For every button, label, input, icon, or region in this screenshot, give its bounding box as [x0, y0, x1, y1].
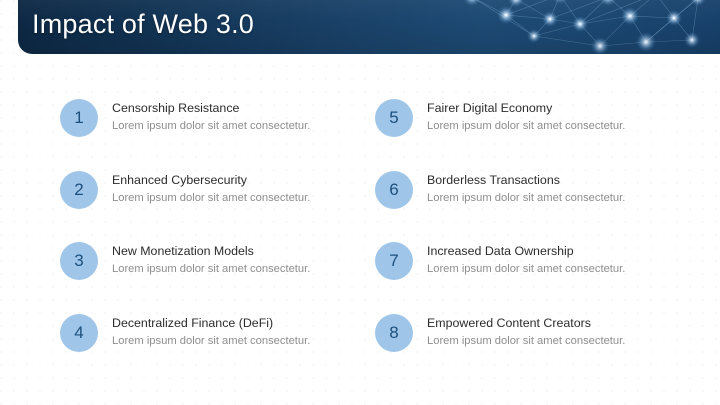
item-description: Lorem ipsum dolor sit amet consectetur.	[112, 190, 310, 206]
list-item[interactable]: 7 Increased Data Ownership Lorem ipsum d…	[375, 229, 705, 301]
item-number-badge: 1	[60, 99, 98, 137]
item-title: New Monetization Models	[112, 243, 310, 259]
item-number-badge: 3	[60, 242, 98, 280]
item-title: Fairer Digital Economy	[427, 100, 625, 116]
item-title: Increased Data Ownership	[427, 243, 625, 259]
item-description: Lorem ipsum dolor sit amet consectetur.	[112, 333, 310, 349]
list-item[interactable]: 6 Borderless Transactions Lorem ipsum do…	[375, 158, 705, 230]
benefits-list: 1 Censorship Resistance Lorem ipsum dolo…	[0, 86, 720, 386]
list-item[interactable]: 3 New Monetization Models Lorem ipsum do…	[60, 229, 390, 301]
item-number-badge: 2	[60, 171, 98, 209]
benefits-column-left: 1 Censorship Resistance Lorem ipsum dolo…	[60, 86, 390, 373]
list-item[interactable]: 5 Fairer Digital Economy Lorem ipsum dol…	[375, 86, 705, 158]
item-description: Lorem ipsum dolor sit amet consectetur.	[427, 118, 625, 134]
item-number-badge: 8	[375, 314, 413, 352]
item-title: Borderless Transactions	[427, 172, 625, 188]
item-title: Decentralized Finance (DeFi)	[112, 315, 310, 331]
item-text-block: Fairer Digital Economy Lorem ipsum dolor…	[427, 86, 625, 134]
item-description: Lorem ipsum dolor sit amet consectetur.	[112, 118, 310, 134]
item-number-badge: 7	[375, 242, 413, 280]
item-text-block: Empowered Content Creators Lorem ipsum d…	[427, 301, 625, 349]
item-text-block: Increased Data Ownership Lorem ipsum dol…	[427, 229, 625, 277]
item-text-block: Enhanced Cybersecurity Lorem ipsum dolor…	[112, 158, 310, 206]
list-item[interactable]: 8 Empowered Content Creators Lorem ipsum…	[375, 301, 705, 373]
item-number-badge: 6	[375, 171, 413, 209]
benefits-column-right: 5 Fairer Digital Economy Lorem ipsum dol…	[375, 86, 705, 373]
slide-header-bar: Impact of Web 3.0	[18, 0, 720, 54]
item-text-block: New Monetization Models Lorem ipsum dolo…	[112, 229, 310, 277]
item-title: Empowered Content Creators	[427, 315, 625, 331]
list-item[interactable]: 2 Enhanced Cybersecurity Lorem ipsum dol…	[60, 158, 390, 230]
item-description: Lorem ipsum dolor sit amet consectetur.	[427, 261, 625, 277]
item-text-block: Decentralized Finance (DeFi) Lorem ipsum…	[112, 301, 310, 349]
item-description: Lorem ipsum dolor sit amet consectetur.	[427, 190, 625, 206]
page-title: Impact of Web 3.0	[32, 4, 254, 44]
item-text-block: Borderless Transactions Lorem ipsum dolo…	[427, 158, 625, 206]
item-description: Lorem ipsum dolor sit amet consectetur.	[427, 333, 625, 349]
item-text-block: Censorship Resistance Lorem ipsum dolor …	[112, 86, 310, 134]
item-number-badge: 4	[60, 314, 98, 352]
item-title: Enhanced Cybersecurity	[112, 172, 310, 188]
item-title: Censorship Resistance	[112, 100, 310, 116]
item-description: Lorem ipsum dolor sit amet consectetur.	[112, 261, 310, 277]
item-number-badge: 5	[375, 99, 413, 137]
network-nodes-icon	[460, 0, 720, 54]
slide-canvas: Impact of Web 3.0 1 Censorship Resistanc…	[0, 0, 720, 405]
list-item[interactable]: 1 Censorship Resistance Lorem ipsum dolo…	[60, 86, 390, 158]
list-item[interactable]: 4 Decentralized Finance (DeFi) Lorem ips…	[60, 301, 390, 373]
